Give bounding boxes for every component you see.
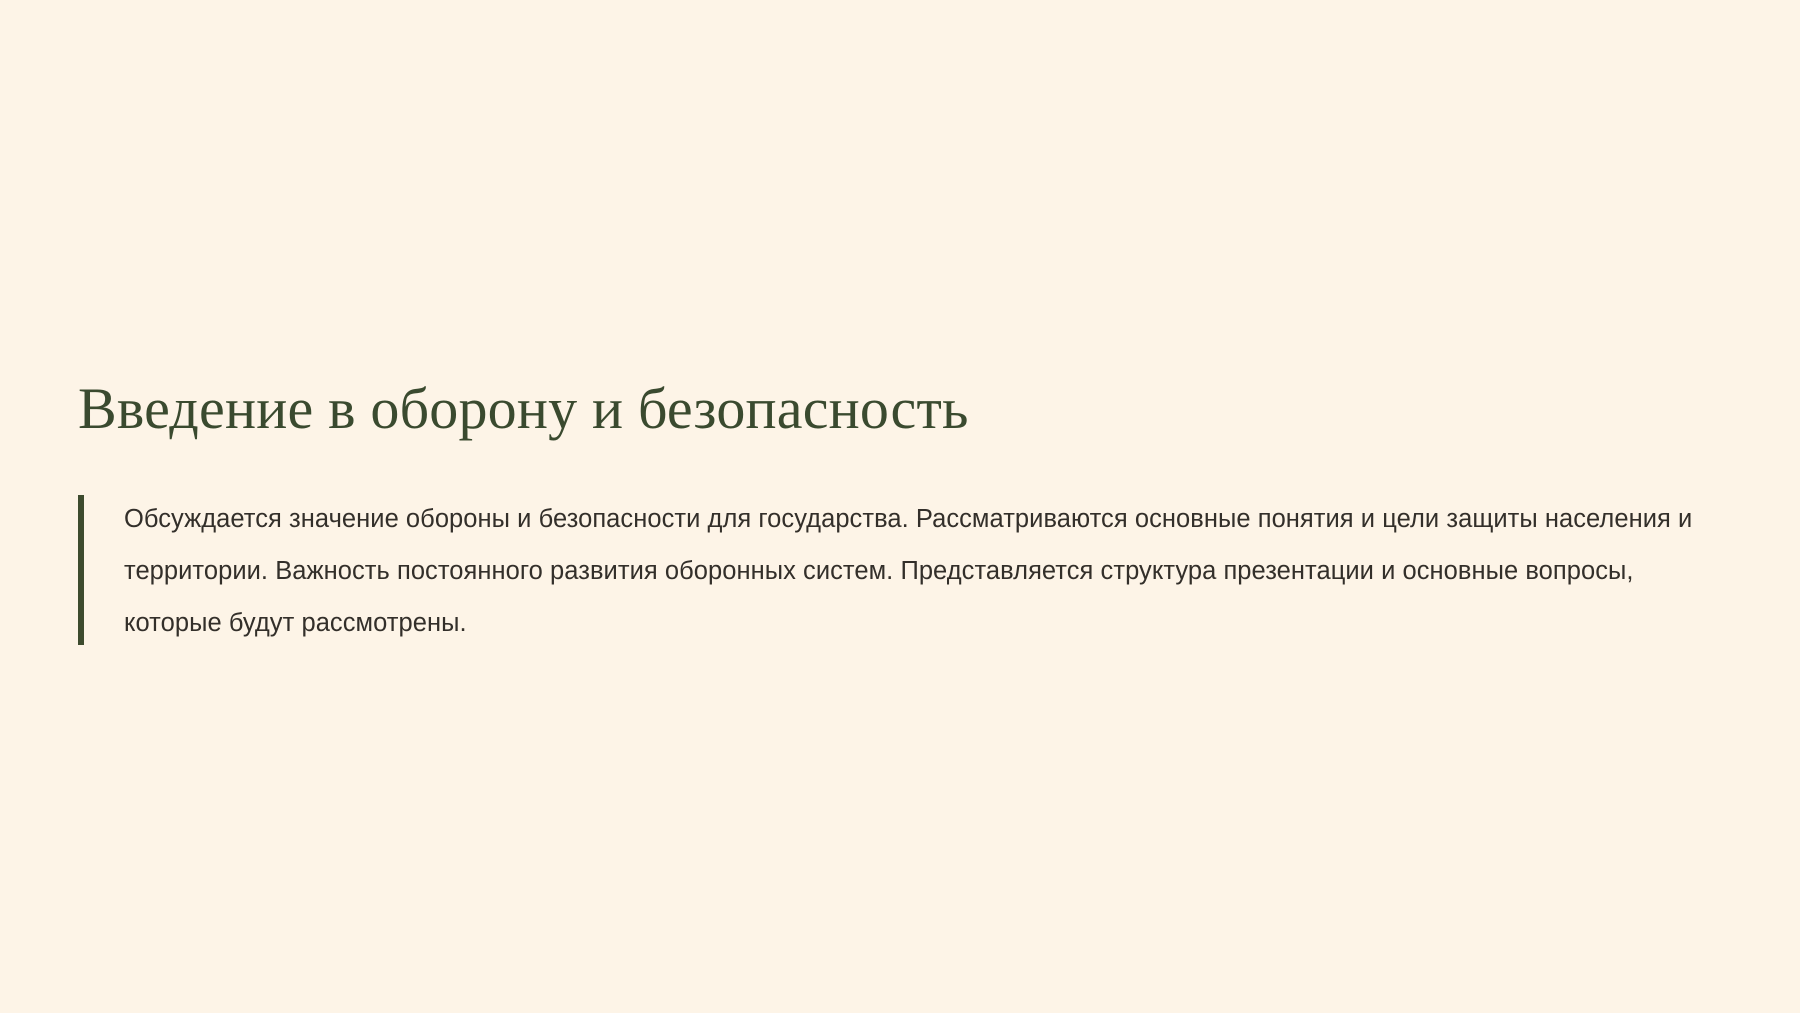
presentation-slide: Введение в оборону и безопасность Обсужд…	[0, 0, 1800, 1013]
slide-content: Введение в оборону и безопасность Обсужд…	[78, 378, 1728, 649]
accent-bar	[78, 495, 84, 645]
body-block: Обсуждается значение обороны и безопасно…	[78, 493, 1728, 649]
page-title: Введение в оборону и безопасность	[78, 378, 1728, 441]
body-paragraph: Обсуждается значение обороны и безопасно…	[124, 493, 1736, 649]
